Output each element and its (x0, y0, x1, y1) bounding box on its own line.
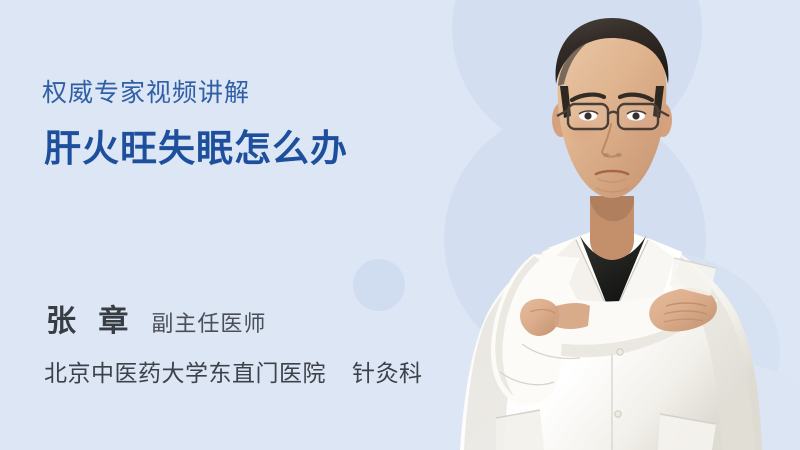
doctor-name: 张 章 (46, 296, 135, 340)
page-title: 肝火旺失眠怎么办 (44, 118, 348, 172)
text-overlay: 权威专家视频讲解 肝火旺失眠怎么办 张 章 副主任医师 北京中医药大学东直门医院… (0, 0, 520, 450)
doctor-affiliation-row: 北京中医药大学东直门医院 针灸科 (44, 354, 423, 388)
doctor-rank: 副主任医师 (151, 306, 266, 338)
doctor-hospital: 北京中医药大学东直门医院 (44, 354, 326, 388)
doctor-department: 针灸科 (352, 354, 423, 388)
doctor-name-row: 张 章 副主任医师 (46, 296, 266, 340)
eyebrow-text: 权威专家视频讲解 (42, 73, 250, 109)
video-thumbnail-card: 权威专家视频讲解 肝火旺失眠怎么办 张 章 副主任医师 北京中医药大学东直门医院… (0, 0, 800, 450)
